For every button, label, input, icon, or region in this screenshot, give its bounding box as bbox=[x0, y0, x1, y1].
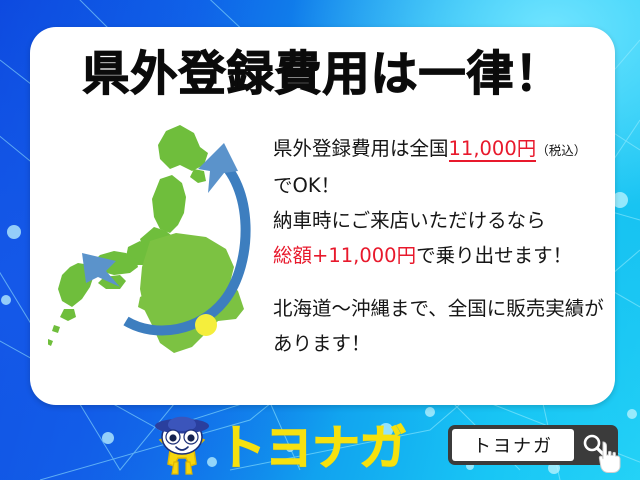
banner-stage: 県外登録費用は一律！ bbox=[0, 0, 640, 480]
copy-spacer bbox=[273, 273, 613, 291]
page-title: 県外登録費用は一律！ bbox=[30, 51, 615, 98]
toyonaga-mascot bbox=[146, 410, 218, 478]
copy-line-5: 北海道〜沖縄まで、全国に販売実績が bbox=[273, 291, 613, 326]
brand-bar: トヨナガ トヨナガ bbox=[0, 408, 640, 480]
japan-map-illustration bbox=[48, 113, 286, 391]
copy-price-main: 11,000円 bbox=[449, 137, 537, 162]
search-widget[interactable]: トヨナガ bbox=[448, 425, 618, 465]
copy-line-2: でOK！ bbox=[273, 168, 613, 203]
copy-line-1: 県外登録費用は全国11,000円（税込） bbox=[273, 131, 613, 168]
copy-total-price: 総額+11,000円 bbox=[273, 244, 416, 267]
hand-pointer-cursor bbox=[596, 440, 626, 474]
search-input[interactable]: トヨナガ bbox=[452, 429, 574, 461]
copy-line-4: 総額+11,000円で乗り出せます！ bbox=[273, 238, 613, 273]
dealer-location-dot bbox=[195, 314, 217, 336]
copy-line-1-pre: 県外登録費用は全国 bbox=[273, 137, 449, 160]
copy-line-3: 納車時にご来店いただけるなら bbox=[273, 203, 613, 238]
copy-line-4-rest: で乗り出せます！ bbox=[416, 244, 572, 267]
brand-logo-text: トヨナガ bbox=[218, 424, 406, 472]
body-copy: 県外登録費用は全国11,000円（税込） でOK！ 納車時にご来店いただけるなら… bbox=[273, 131, 613, 361]
main-card: 県外登録費用は一律！ bbox=[30, 27, 615, 405]
copy-line-6: あります！ bbox=[273, 326, 613, 361]
copy-tax-note: （税込） bbox=[536, 143, 586, 158]
